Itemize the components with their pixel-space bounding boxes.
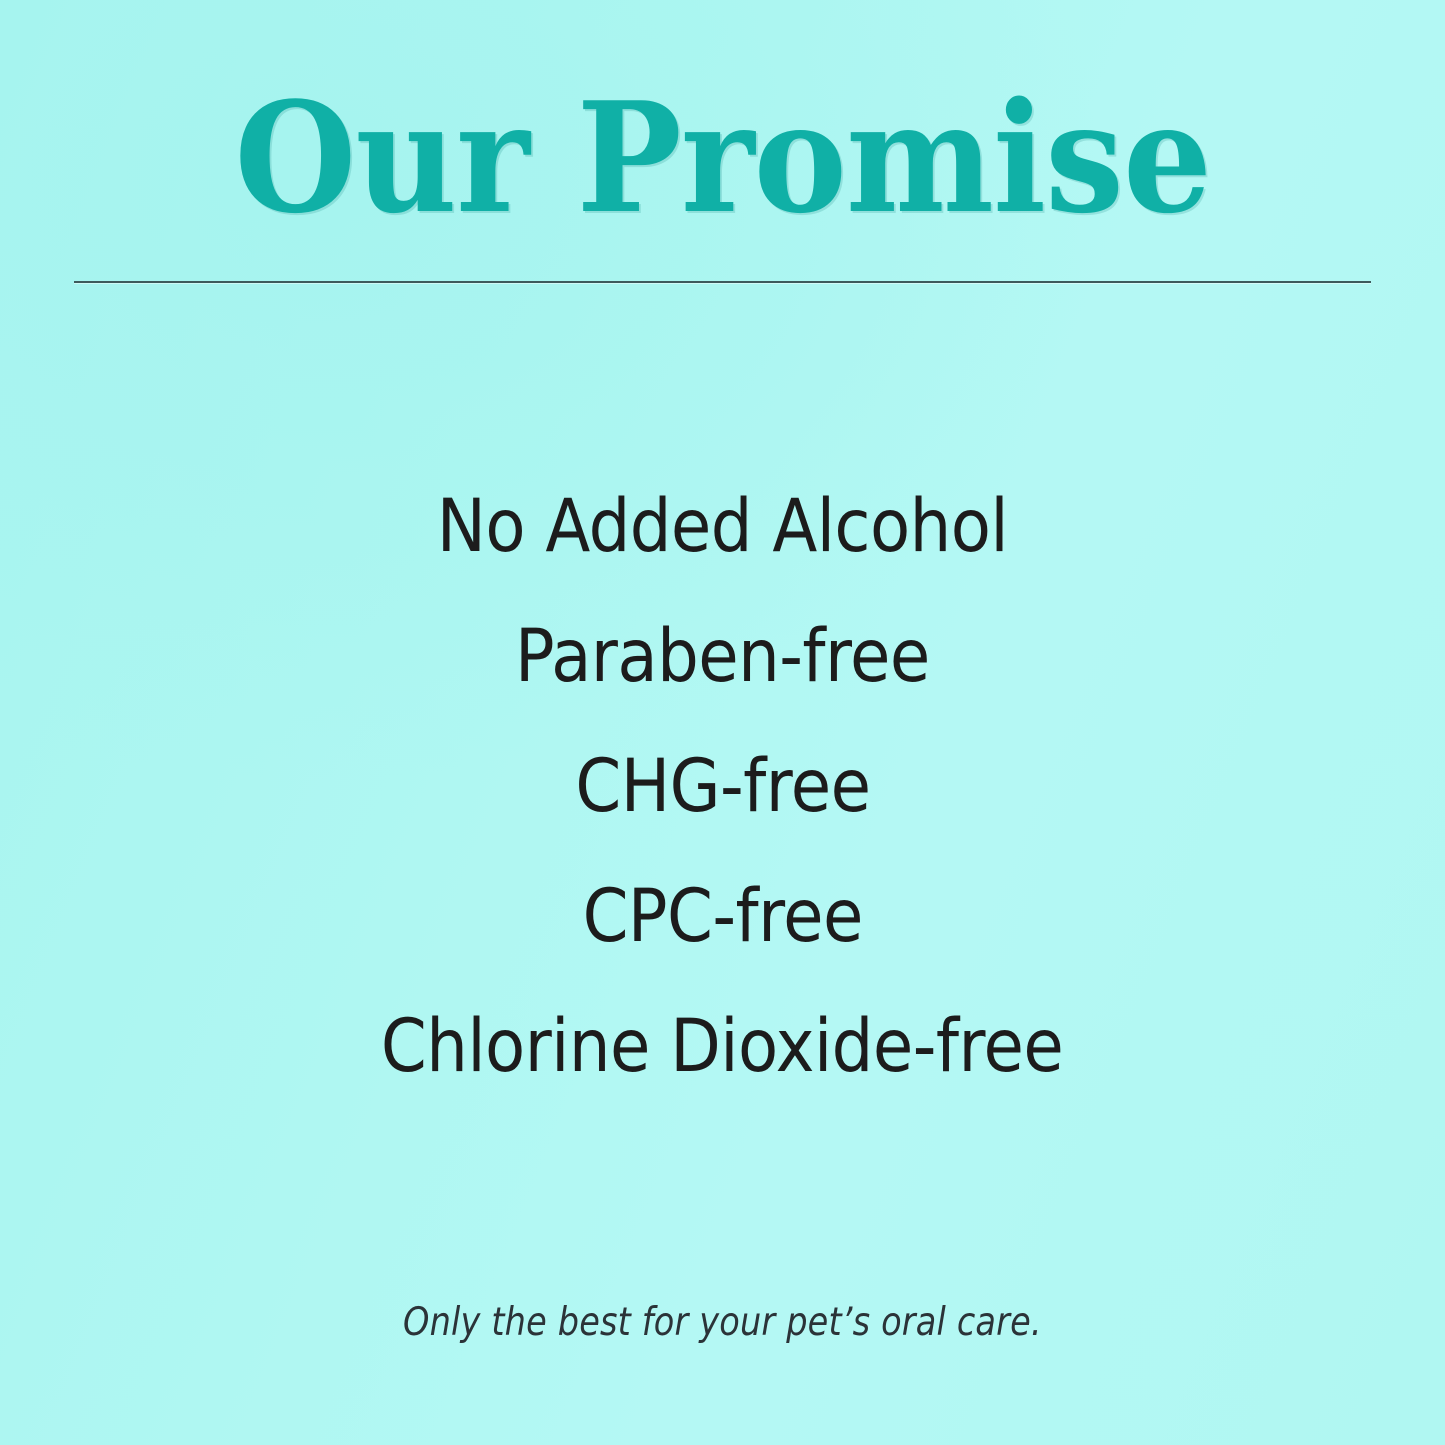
our-promise-card: Our Promise No Added Alcohol Paraben-fre… <box>0 0 1445 1445</box>
list-item: CHG-free <box>575 722 870 852</box>
footer-block: Only the best for your pet’s oral care. <box>0 1300 1445 1347</box>
list-item: No Added Alcohol <box>437 462 1008 592</box>
footer-tagline: Only the best for your pet’s oral care. <box>403 1300 1042 1347</box>
page-title: Our Promise <box>234 0 1211 234</box>
list-item: Chlorine Dioxide-free <box>381 982 1063 1112</box>
header-block: Our Promise <box>0 0 1445 283</box>
list-item: Paraben-free <box>515 592 930 722</box>
promise-list: No Added Alcohol Paraben-free CHG-free C… <box>0 462 1445 1112</box>
list-item: CPC-free <box>582 852 862 982</box>
title-divider <box>74 281 1371 283</box>
